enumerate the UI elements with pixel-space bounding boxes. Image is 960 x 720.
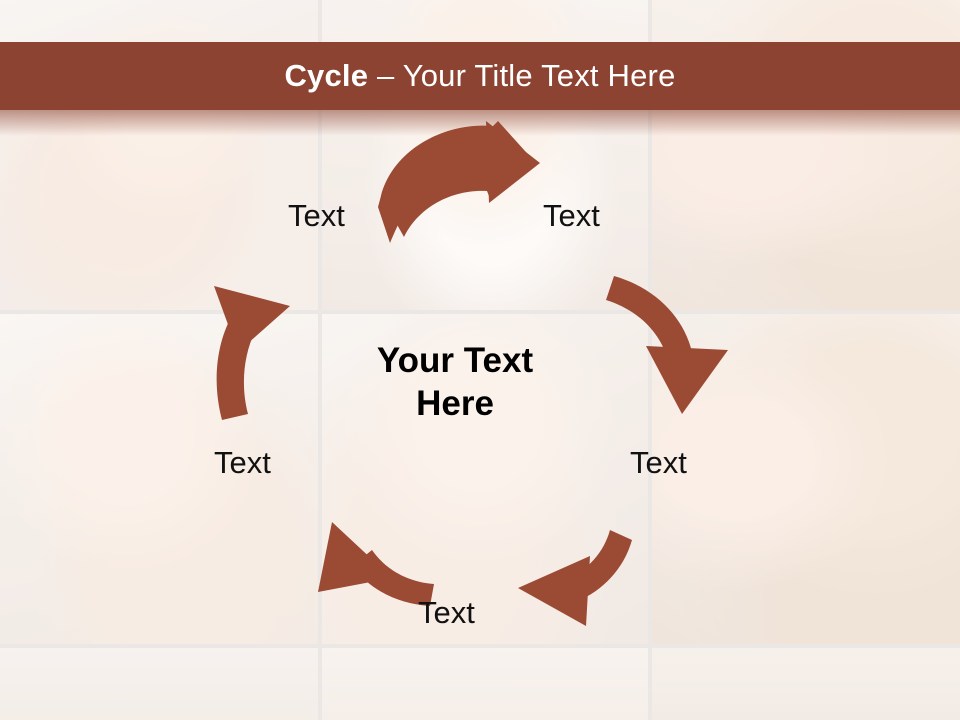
cycle-label-bottom: Text (418, 595, 475, 631)
photo-strip-center (322, 648, 648, 720)
photo-strip-left (0, 648, 318, 720)
title-banner: Cycle – Your Title Text Here (0, 42, 960, 110)
cycle-label-right: Text (630, 445, 687, 481)
page-title-rest: – Your Title Text Here (368, 58, 675, 93)
cycle-label-top-right: Text (543, 198, 600, 234)
photo-strip-right (652, 648, 960, 720)
slide: Cycle – Your Title Text Here Your (0, 0, 960, 720)
cycle-center-line-2: Here (330, 383, 580, 426)
cycle-label-top-left: Text (288, 198, 345, 234)
cycle-label-left: Text (214, 445, 271, 481)
mother-holding-baby-photo (652, 314, 960, 644)
page-title: Cycle – Your Title Text Here (284, 58, 675, 94)
page-title-strong: Cycle (284, 58, 368, 93)
cycle-center-line-1: Your Text (330, 340, 580, 383)
cycle-center-text: Your Text Here (330, 340, 580, 425)
